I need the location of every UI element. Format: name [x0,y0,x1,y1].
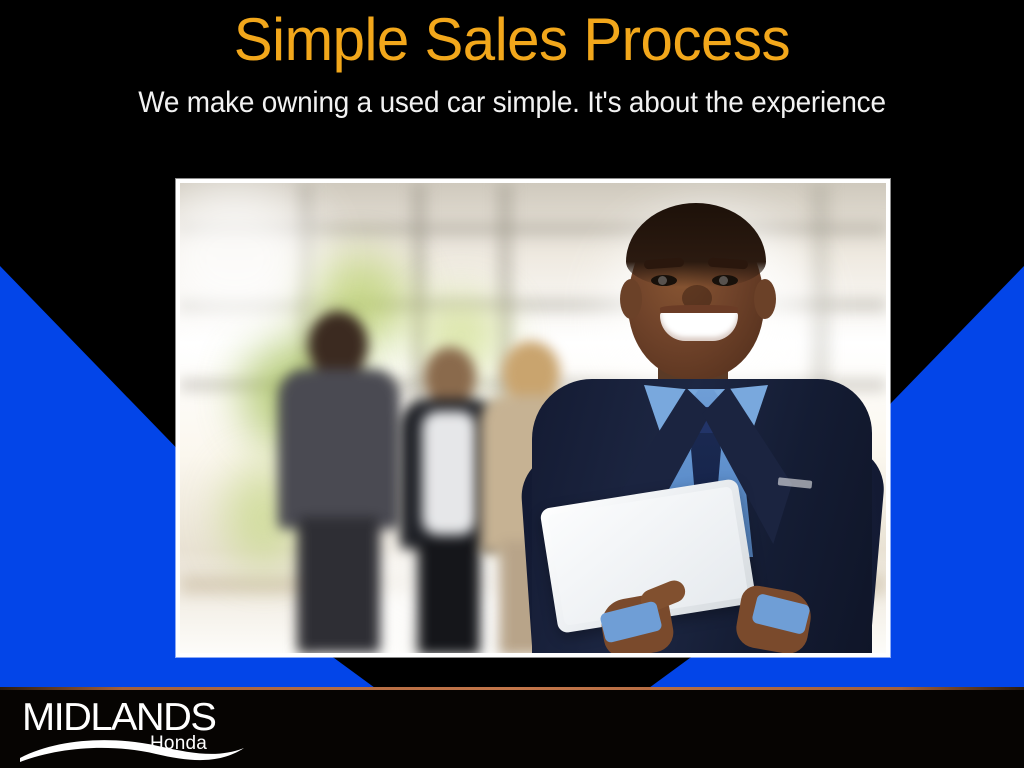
page-subtitle: We make owning a used car simple. It's a… [36,86,988,120]
header: Simple Sales Process We make owning a us… [0,0,1024,140]
eye-right [712,275,738,286]
footer-bar: MIDLANDS Honda Sales (844) 805-1973 See … [0,690,1024,768]
slide-canvas: Simple Sales Process We make owning a us… [0,0,1024,768]
ear-right [754,279,776,319]
ear-left [620,279,642,319]
eye-left [651,275,677,286]
background-person [276,311,406,651]
logo-swoosh-icon [18,730,246,764]
hero-photo-frame [176,179,890,657]
page-title: Simple Sales Process [15,8,1008,72]
hero-photo [180,183,886,653]
hair [626,203,766,287]
smile [660,311,738,341]
dealership-logo[interactable]: MIDLANDS Honda [22,698,242,764]
bottom-notch-shape [330,655,694,687]
foreground-salesperson [532,193,872,653]
